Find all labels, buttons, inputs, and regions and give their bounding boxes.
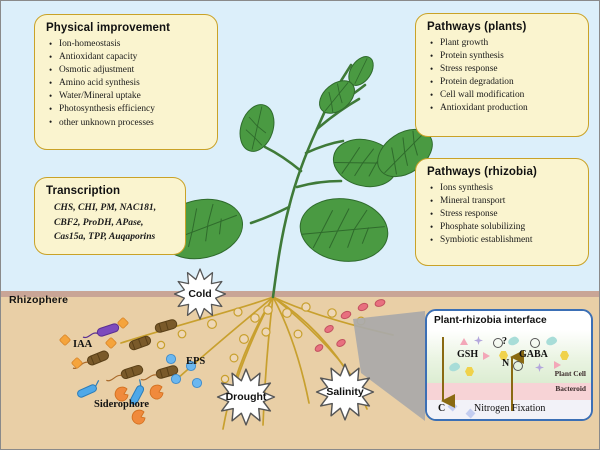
list-item: Osmotic adjustment <box>46 64 207 77</box>
card-pathways-plants-list: Plant growth Protein synthesis Stress re… <box>427 37 578 116</box>
card-transcription: Transcription CHS, CHI, PM, NAC181, CBF2… <box>34 177 186 255</box>
siderophore-label: Siderophore <box>94 399 149 410</box>
figure-canvas: Rhizophere <box>0 0 600 450</box>
list-item: Photosynthesis efficiency <box>46 103 207 116</box>
card-pathways-plants-title: Pathways (plants) <box>427 21 578 33</box>
list-item: Antioxidant production <box>427 102 578 115</box>
list-item: Protein synthesis <box>427 50 578 63</box>
gene-line: CHS, CHI, PM, NAC181, <box>54 201 175 216</box>
unknown-label: ? <box>502 336 507 347</box>
list-item: other unknown processes <box>46 117 207 130</box>
iaa-label: IAA <box>73 339 92 350</box>
nitrogen-fixation-label: Nitrogen Fixation <box>474 403 545 414</box>
card-pathways-rhizobia-list: Ions synthesis Mineral transport Stress … <box>427 182 578 247</box>
list-item: Mineral transport <box>427 195 578 208</box>
list-item: Symbiotic establishment <box>427 234 578 247</box>
nitrogen-label: N <box>502 358 509 369</box>
list-item: Amino acid synthesis <box>46 77 207 90</box>
card-transcription-genes: CHS, CHI, PM, NAC181, CBF2, ProDH, APase… <box>46 201 175 245</box>
gene-line: CBF2, ProDH, APase, <box>54 216 175 231</box>
card-transcription-title: Transcription <box>46 185 175 197</box>
stress-badge-drought: Drought <box>205 368 287 426</box>
inset-title: Plant-rhizobia interface <box>427 311 591 330</box>
list-item: Plant growth <box>427 37 578 50</box>
list-item: Ions synthesis <box>427 182 578 195</box>
gene-line: Cas15a, TPP, Auqaporins <box>54 230 175 245</box>
list-item: Antioxidant capacity <box>46 51 207 64</box>
inset-plant-rhizobia-interface: Plant-rhizobia interface Plant Cell Bact… <box>425 309 593 421</box>
list-item: Stress response <box>427 208 578 221</box>
list-item: Stress response <box>427 63 578 76</box>
card-physical-title: Physical improvement <box>46 22 207 34</box>
list-item: Ion-homeostasis <box>46 38 207 51</box>
gsh-label: GSH <box>457 349 478 360</box>
list-item: Protein degradation <box>427 76 578 89</box>
card-pathways-plants: Pathways (plants) Plant growth Protein s… <box>415 13 589 137</box>
list-item: Phosphate solubilizing <box>427 221 578 234</box>
card-pathways-rhizobia-title: Pathways (rhizobia) <box>427 166 578 178</box>
stress-badge-salinity: Salinity <box>301 363 389 421</box>
card-pathways-rhizobia: Pathways (rhizobia) Ions synthesis Miner… <box>415 158 589 266</box>
list-item: Water/Mineral uptake <box>46 90 207 103</box>
carbon-label: C <box>438 403 445 414</box>
stress-badge-cold: Cold <box>165 268 235 320</box>
card-physical-list: Ion-homeostasis Antioxidant capacity Osm… <box>46 38 207 130</box>
list-item: Cell wall modification <box>427 89 578 102</box>
eps-label: EPS <box>186 356 205 367</box>
gaba-label: GABA <box>519 349 548 360</box>
card-physical-improvement: Physical improvement Ion-homeostasis Ant… <box>34 14 218 150</box>
